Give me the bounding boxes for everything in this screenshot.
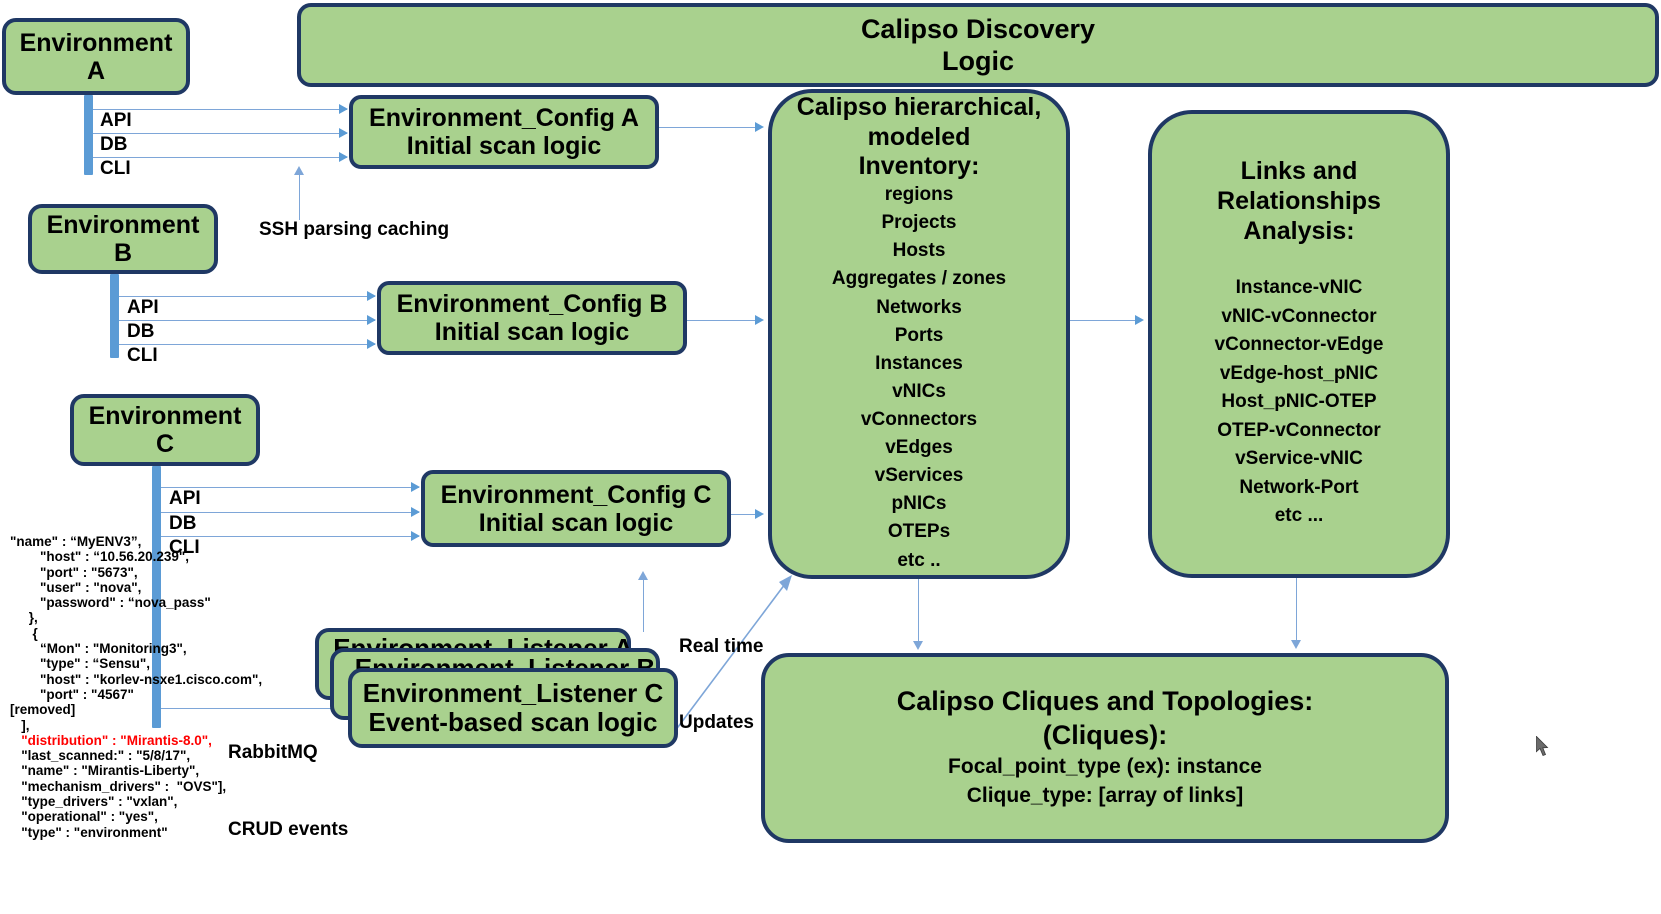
- environment-a-node[interactable]: Environment A: [2, 18, 190, 95]
- env-c-db-arrow-icon: [411, 507, 420, 517]
- environment-a-line-2: A: [6, 57, 186, 85]
- config-a-line-2: Initial scan logic: [353, 132, 655, 160]
- link-item: vNIC-vConnector: [1152, 303, 1446, 332]
- config-c-line-1: Environment_Config C: [425, 481, 727, 509]
- config-a-to-inventory-line: [659, 127, 759, 128]
- environment-b-line-1: Environment: [32, 211, 214, 239]
- environment-listener-c-node[interactable]: Environment_Listener C Event-based scan …: [348, 668, 678, 748]
- links-relationships-node[interactable]: Links and Relationships Analysis: Instan…: [1148, 110, 1450, 578]
- links-heading-1: Links and: [1152, 157, 1446, 187]
- listener-to-config-c-line: [643, 580, 644, 632]
- inventory-item: Networks: [772, 294, 1066, 322]
- json-highlighted-distribution-line: "distribution" : "Mirantis-8.0",: [21, 733, 212, 748]
- env-c-api-label: API: [169, 488, 201, 510]
- env-c-db-line: [161, 512, 419, 513]
- calipso-inventory-node[interactable]: Calipso hierarchical, modeled Inventory:…: [768, 89, 1070, 579]
- links-to-cliques-line: [1296, 578, 1297, 644]
- inventory-to-links-line: [1070, 320, 1136, 321]
- inventory-item: vNICs: [772, 378, 1066, 406]
- calipso-discovery-logic-banner: Calipso Discovery Logic: [297, 3, 1659, 87]
- inventory-item: Instances: [772, 350, 1066, 378]
- mouse-cursor-icon: [1536, 736, 1552, 758]
- links-heading-2: Relationships: [1152, 187, 1446, 217]
- env-a-cli-arrow-icon: [339, 152, 348, 162]
- inventory-heading-1: Calipso hierarchical,: [772, 93, 1066, 122]
- env-c-cli-arrow-icon: [411, 531, 420, 541]
- config-c-line-2: Initial scan logic: [425, 509, 727, 537]
- inventory-item: etc ..: [772, 547, 1066, 575]
- environment-c-node[interactable]: Environment C: [70, 394, 260, 466]
- inventory-item: OTEPs: [772, 518, 1066, 546]
- config-c-to-inventory-arrow-icon: [755, 509, 764, 519]
- listener-c-line-2: Event-based scan logic: [352, 708, 674, 737]
- environment-b-trunk: [110, 274, 119, 358]
- diagram-canvas: Calipso Discovery Logic Environment A En…: [0, 0, 1661, 914]
- env-b-db-label: DB: [127, 321, 154, 343]
- environment-config-c-node[interactable]: Environment_Config C Initial scan logic: [421, 470, 731, 547]
- inventory-to-cliques-line: [918, 579, 919, 645]
- environment-b-line-2: B: [32, 239, 214, 267]
- banner-line-1: Calipso Discovery: [301, 13, 1655, 45]
- cliques-heading-1: Calipso Cliques and Topologies:: [765, 685, 1445, 719]
- inventory-item: vServices: [772, 462, 1066, 490]
- env-a-db-line: [93, 133, 347, 134]
- cliques-heading-2: (Cliques):: [765, 719, 1445, 753]
- env-b-cli-label: CLI: [127, 345, 158, 367]
- env-a-api-arrow-icon: [339, 104, 348, 114]
- environment-b-node[interactable]: Environment B: [28, 204, 218, 274]
- env-b-db-arrow-icon: [367, 315, 376, 325]
- link-item: vService-vNIC: [1152, 445, 1446, 474]
- env-b-cli-arrow-icon: [367, 339, 376, 349]
- link-item: Host_pNIC-OTEP: [1152, 388, 1446, 417]
- environment-c-line-1: Environment: [74, 402, 256, 430]
- cliques-item: Focal_point_type (ex): instance: [765, 753, 1445, 782]
- environment-a-line-1: Environment: [6, 29, 186, 57]
- calipso-cliques-topologies-node[interactable]: Calipso Cliques and Topologies: (Cliques…: [761, 653, 1449, 843]
- link-item: Network-Port: [1152, 474, 1446, 503]
- environment-a-trunk: [84, 95, 93, 175]
- inventory-item: Projects: [772, 209, 1066, 237]
- json-lines-before-highlight: "name" : “MyENV3”, "host" : “10.56.20.23…: [10, 534, 262, 748]
- inventory-item: Ports: [772, 322, 1066, 350]
- config-b-to-inventory-line: [687, 320, 759, 321]
- env-a-cli-line: [93, 157, 347, 158]
- inventory-item: Hosts: [772, 237, 1066, 265]
- link-item: OTEP-vConnector: [1152, 417, 1446, 446]
- banner-line-2: Logic: [301, 45, 1655, 77]
- ssh-caching-line: [299, 175, 300, 220]
- realtime-updates-line-1: Real time: [679, 634, 763, 659]
- environment-config-a-node[interactable]: Environment_Config A Initial scan logic: [349, 95, 659, 169]
- inventory-item: Aggregates / zones: [772, 265, 1066, 293]
- env-b-api-label: API: [127, 297, 159, 319]
- link-item: etc ...: [1152, 502, 1446, 531]
- json-lines-after-highlight: "last_scanned:" : "5/8/17", "name" : "Mi…: [10, 748, 226, 839]
- link-item: vEdge-host_pNIC: [1152, 360, 1446, 389]
- listener-to-config-c-arrow-icon: [638, 571, 648, 580]
- links-to-cliques-arrow-icon: [1291, 640, 1301, 649]
- link-item: vConnector-vEdge: [1152, 331, 1446, 360]
- environment-json-snippet: "name" : “MyENV3”, "host" : “10.56.20.23…: [10, 534, 340, 840]
- inventory-item: pNICs: [772, 490, 1066, 518]
- link-item: Instance-vNIC: [1152, 274, 1446, 303]
- env-b-db-line: [119, 320, 375, 321]
- inventory-heading-2: modeled: [772, 123, 1066, 152]
- inventory-item: vEdges: [772, 434, 1066, 462]
- ssh-caching-arrow-icon: [294, 166, 304, 175]
- env-a-db-arrow-icon: [339, 128, 348, 138]
- links-heading-3: Analysis:: [1152, 217, 1446, 247]
- realtime-updates-label: Real time Updates: [679, 583, 763, 787]
- env-c-api-arrow-icon: [411, 482, 420, 492]
- env-a-cli-label: CLI: [100, 158, 131, 180]
- env-a-db-label: DB: [100, 134, 127, 156]
- config-b-to-inventory-arrow-icon: [755, 315, 764, 325]
- config-a-to-inventory-arrow-icon: [755, 122, 764, 132]
- inventory-heading-3: Inventory:: [772, 152, 1066, 181]
- config-b-line-1: Environment_Config B: [381, 290, 683, 318]
- realtime-updates-line-2: Updates: [679, 710, 763, 735]
- environment-c-line-2: C: [74, 430, 256, 458]
- env-a-api-label: API: [100, 110, 132, 132]
- config-a-line-1: Environment_Config A: [353, 104, 655, 132]
- inventory-to-cliques-arrow-icon: [913, 641, 923, 650]
- inventory-item: vConnectors: [772, 406, 1066, 434]
- inventory-item: regions: [772, 181, 1066, 209]
- ssh-parsing-caching-label: SSH parsing caching: [259, 219, 449, 241]
- environment-config-b-node[interactable]: Environment_Config B Initial scan logic: [377, 281, 687, 355]
- env-b-api-arrow-icon: [367, 291, 376, 301]
- cliques-item: Clique_type: [array of links]: [765, 782, 1445, 811]
- env-c-db-label: DB: [169, 513, 196, 535]
- inventory-to-links-arrow-icon: [1135, 315, 1144, 325]
- config-b-line-2: Initial scan logic: [381, 318, 683, 346]
- listener-c-line-1: Environment_Listener C: [352, 679, 674, 708]
